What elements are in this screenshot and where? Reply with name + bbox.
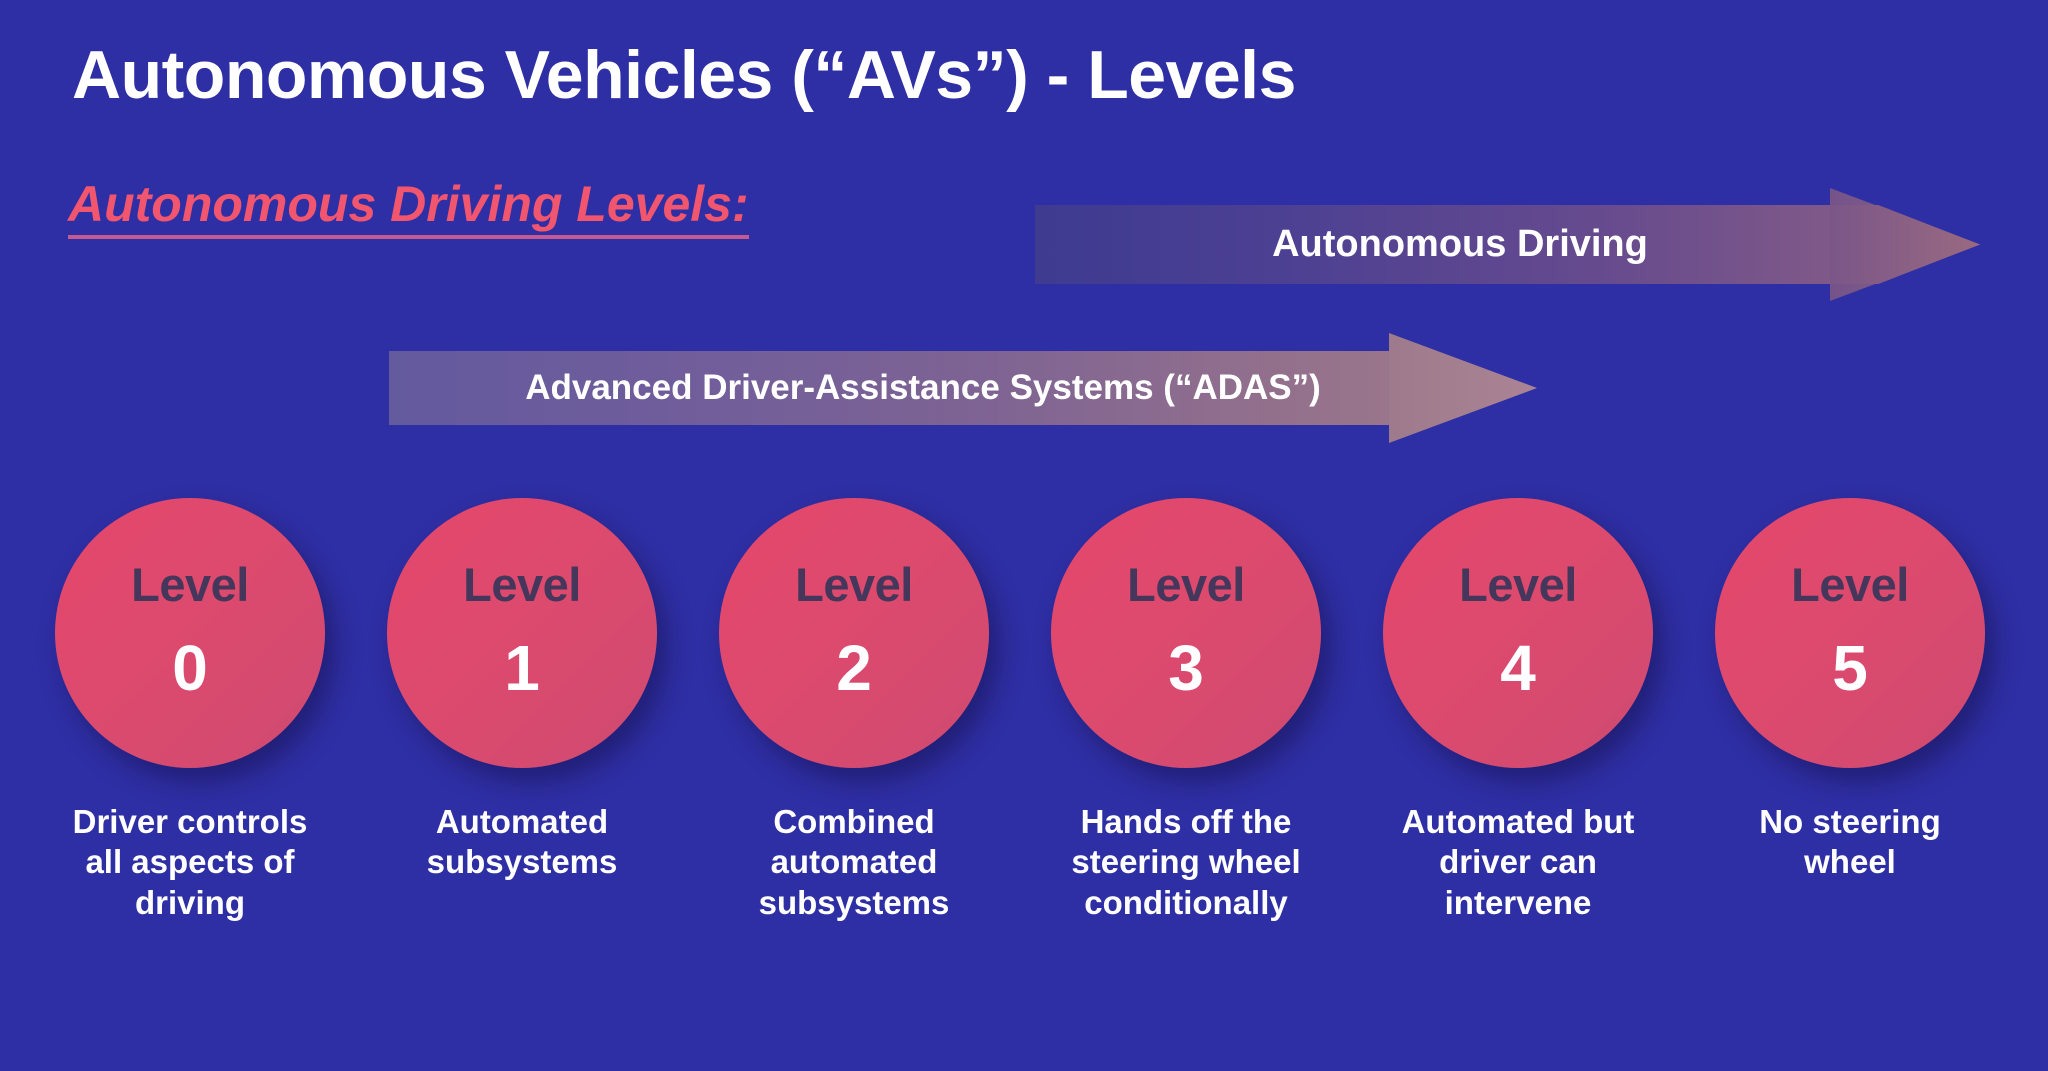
level-item-4: Level 4 Automated but driver can interve…	[1383, 498, 1653, 923]
level-word-3: Level	[1127, 561, 1245, 608]
level-number-0: 0	[172, 636, 208, 700]
level-word-5: Level	[1791, 561, 1909, 608]
level-item-5: Level 5 No steering wheel	[1715, 498, 1985, 923]
level-word-4: Level	[1459, 561, 1577, 608]
level-word-2: Level	[795, 561, 913, 608]
level-caption-1: Automated subsystems	[387, 802, 657, 883]
level-item-1: Level 1 Automated subsystems	[387, 498, 657, 923]
autonomous-driving-arrow: Autonomous Driving	[1035, 205, 1980, 284]
level-caption-0: Driver controls all aspects of driving	[55, 802, 325, 923]
level-number-5: 5	[1832, 636, 1868, 700]
level-circle-0: Level 0	[55, 498, 325, 768]
arrow-head-icon-autonomous	[1830, 188, 1980, 301]
level-circle-5: Level 5	[1715, 498, 1985, 768]
section-subtitle: Autonomous Driving Levels:	[68, 178, 749, 239]
level-number-2: 2	[836, 636, 872, 700]
level-circle-4: Level 4	[1383, 498, 1653, 768]
level-item-2: Level 2 Combined automated subsystems	[719, 498, 989, 923]
level-number-1: 1	[504, 636, 540, 700]
level-number-4: 4	[1500, 636, 1536, 700]
autonomous-driving-arrow-label: Autonomous Driving	[1272, 223, 1648, 266]
level-caption-3: Hands off the steering wheel conditional…	[1051, 802, 1321, 923]
page-title: Autonomous Vehicles (“AVs”) - Levels	[72, 38, 1296, 113]
arrow-head-icon-adas	[1389, 333, 1537, 443]
levels-row: Level 0 Driver controls all aspects of d…	[0, 498, 2048, 923]
level-circle-3: Level 3	[1051, 498, 1321, 768]
adas-arrow-label: Advanced Driver-Assistance Systems (“ADA…	[525, 368, 1321, 408]
level-caption-5: No steering wheel	[1715, 802, 1985, 883]
level-circle-1: Level 1	[387, 498, 657, 768]
level-word-0: Level	[131, 561, 249, 608]
slide-canvas: Autonomous Vehicles (“AVs”) - Levels Aut…	[0, 0, 2048, 1071]
level-word-1: Level	[463, 561, 581, 608]
level-circle-2: Level 2	[719, 498, 989, 768]
level-number-3: 3	[1168, 636, 1204, 700]
level-item-0: Level 0 Driver controls all aspects of d…	[55, 498, 325, 923]
level-caption-4: Automated but driver can intervene	[1383, 802, 1653, 923]
level-item-3: Level 3 Hands off the steering wheel con…	[1051, 498, 1321, 923]
level-caption-2: Combined automated subsystems	[719, 802, 989, 923]
adas-arrow: Advanced Driver-Assistance Systems (“ADA…	[389, 351, 1537, 425]
